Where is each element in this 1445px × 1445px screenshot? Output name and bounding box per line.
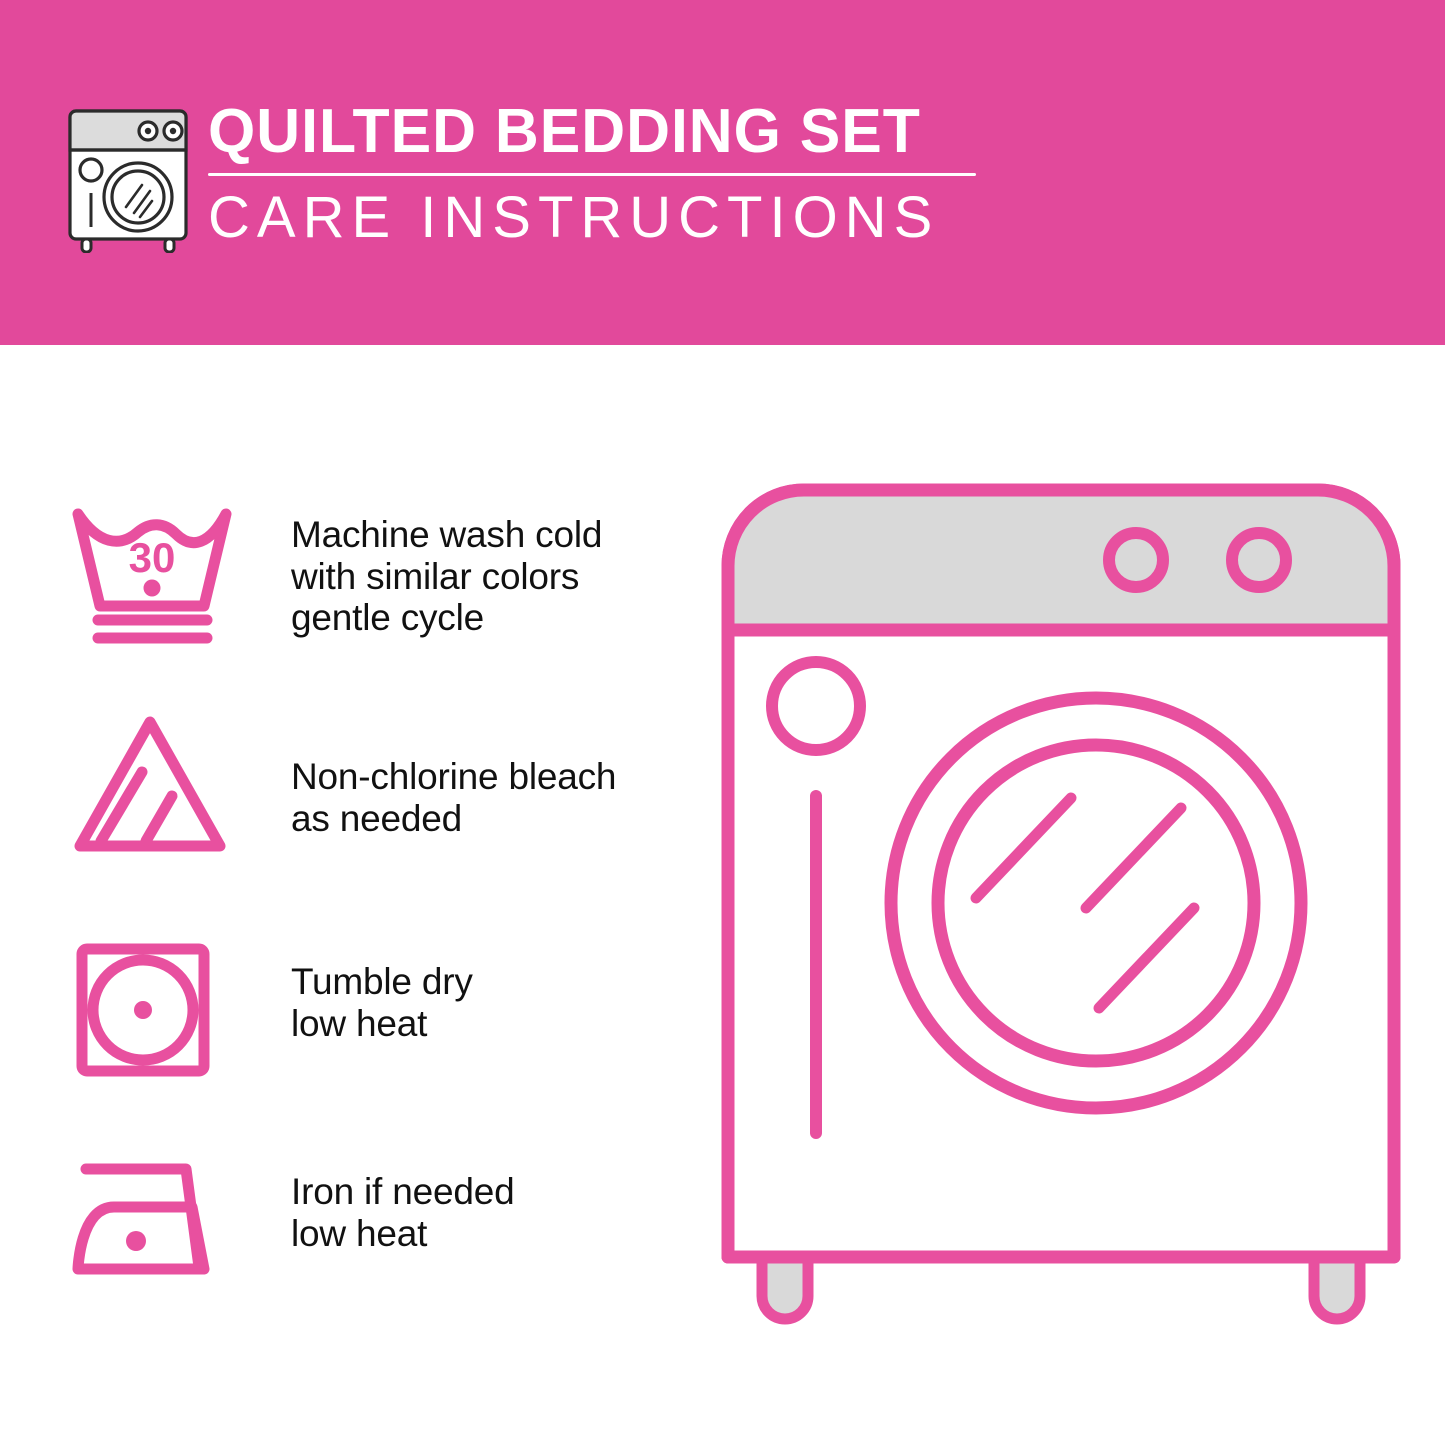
care-line: gentle cycle <box>291 597 691 639</box>
bleach-triangle-icon <box>68 710 238 865</box>
care-line: low heat <box>291 1003 691 1045</box>
wash-tub-30-icon: 30 <box>68 500 238 655</box>
washing-machine-illustration <box>716 478 1406 1368</box>
washer-knob-2 <box>1232 533 1286 587</box>
header-washing-machine-icon <box>62 103 194 253</box>
care-text-tumble-dry: Tumble dry low heat <box>291 961 691 1044</box>
care-text-bleach: Non-chlorine bleach as needed <box>291 756 691 839</box>
care-text-iron: Iron if needed low heat <box>291 1171 691 1254</box>
care-line: Iron if needed <box>291 1171 691 1213</box>
care-line: with similar colors <box>291 556 691 598</box>
care-instructions-page: QUILTED BEDDING SET CARE INSTRUCTIONS 30 <box>0 0 1445 1445</box>
wash-temperature-label: 30 <box>129 534 176 581</box>
washer-knob-1 <box>1109 533 1163 587</box>
care-line: Tumble dry <box>291 961 691 1003</box>
care-line: Machine wash cold <box>291 514 691 556</box>
care-line: low heat <box>291 1213 691 1255</box>
washer-front-dial <box>772 662 860 750</box>
header-divider <box>208 173 976 176</box>
header-text-block: QUILTED BEDDING SET CARE INSTRUCTIONS <box>208 99 983 249</box>
tumble-dry-low-icon <box>68 935 238 1090</box>
header-band: QUILTED BEDDING SET CARE INSTRUCTIONS <box>0 0 1445 345</box>
care-instruction-list: 30 Machine wash cold with similar colors… <box>0 345 700 1445</box>
care-text-machine-wash: Machine wash cold with similar colors ge… <box>291 514 691 639</box>
iron-low-heat-icon <box>68 1145 238 1300</box>
care-line: Non-chlorine bleach <box>291 756 691 798</box>
page-subtitle: CARE INSTRUCTIONS <box>208 187 983 249</box>
care-line: as needed <box>291 798 691 840</box>
page-title: QUILTED BEDDING SET <box>208 99 968 165</box>
